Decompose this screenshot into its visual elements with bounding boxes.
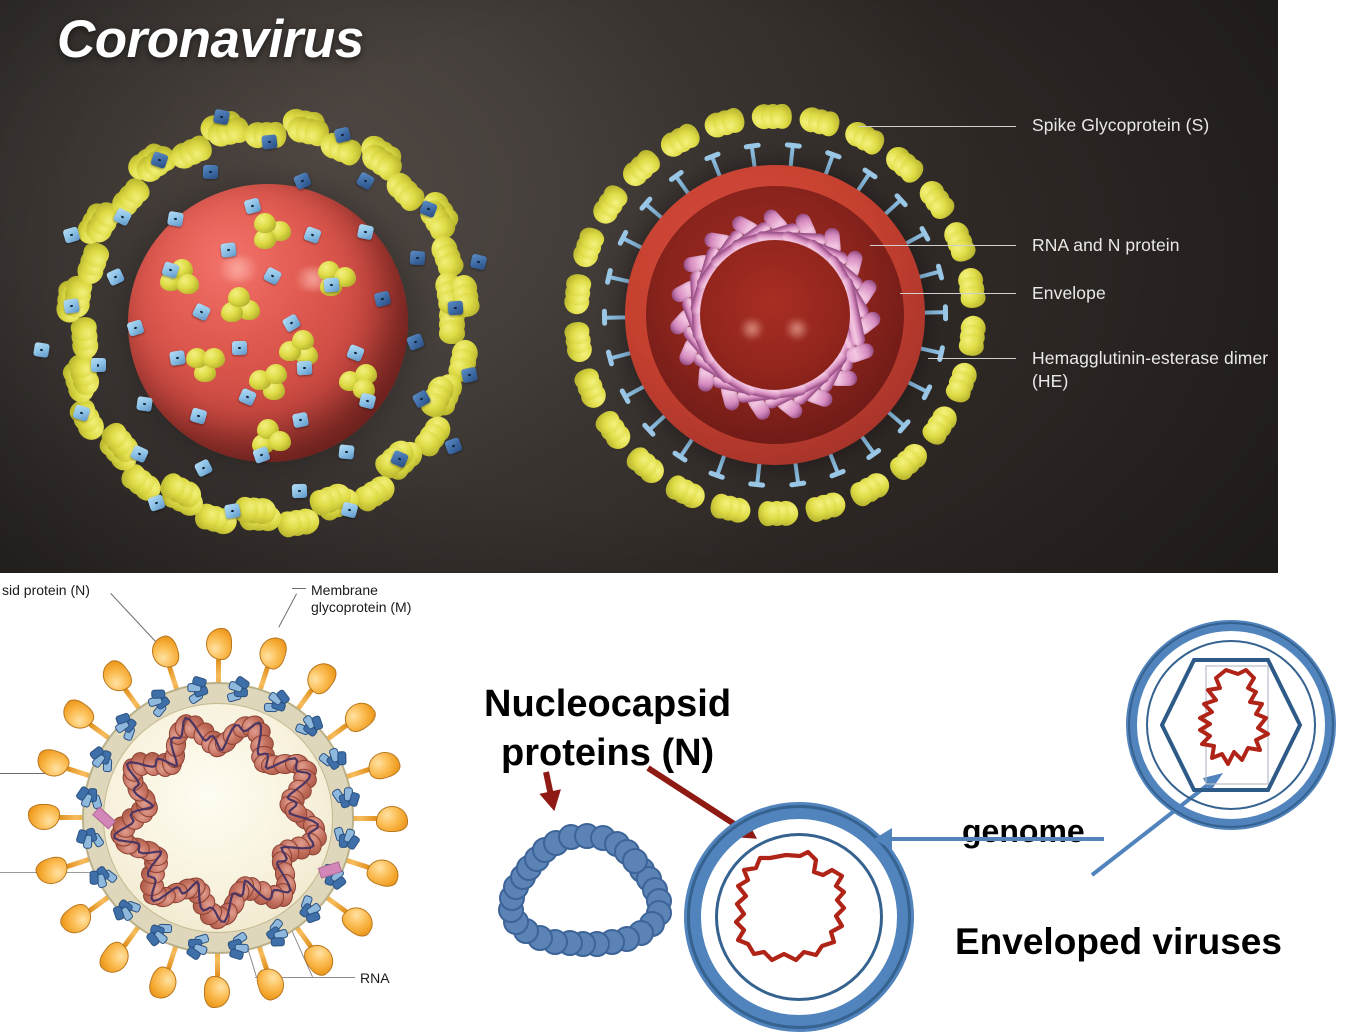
virus-particle-whole <box>18 88 518 558</box>
he-bar <box>790 480 808 487</box>
spike-head <box>228 287 250 307</box>
spike-front <box>180 340 226 382</box>
m-protein <box>406 332 425 350</box>
callout-label-he: Hemagglutinin-esterase dimer (HE) <box>1032 347 1277 393</box>
heading-nucleocapsid-line2: proteins (N) <box>501 732 714 775</box>
arrow-nucleocapsid-to-beads <box>546 772 553 807</box>
virus-b-core <box>700 240 850 390</box>
label-enveloped-viruses: Enveloped viruses <box>955 921 1282 963</box>
m-protein <box>447 301 463 316</box>
spike-head <box>770 104 792 129</box>
arrow-head <box>539 789 565 813</box>
m-protein <box>194 458 214 477</box>
enveloped-virion-right <box>1126 620 1336 830</box>
he-bar <box>748 481 765 488</box>
m-protein <box>220 242 237 258</box>
spike-front <box>335 358 381 400</box>
virus-particle-crosssection <box>540 80 1010 550</box>
m-protein <box>203 165 218 180</box>
arrow-genome-center-group <box>874 832 1104 846</box>
enveloped-virus-concept-panel: Nucleocapsid proteins (N) genome Envelop… <box>0 580 1368 1026</box>
he-stem <box>605 315 627 319</box>
m-protein <box>324 278 340 293</box>
spike-front <box>215 283 261 325</box>
he-bar <box>937 344 946 362</box>
he-bar <box>921 383 933 400</box>
core-speck <box>784 318 810 340</box>
spike-front <box>245 208 291 250</box>
m-protein <box>470 254 488 271</box>
he-stem <box>923 310 945 314</box>
m-protein <box>341 502 359 519</box>
m-protein <box>136 396 153 412</box>
genome-squiggle-right <box>1200 670 1268 764</box>
leader-line-he <box>928 358 1016 359</box>
genome-squiggle-center <box>724 842 876 994</box>
m-protein <box>167 211 184 227</box>
leader-line-spike <box>858 126 1016 127</box>
core-speck <box>739 318 765 340</box>
m-protein <box>261 134 277 149</box>
he-stem <box>788 146 794 168</box>
hexagonal-capsid <box>1162 660 1300 790</box>
m-protein <box>169 350 186 366</box>
spike-front <box>155 255 201 297</box>
callout-label-rna: RNA and N protein <box>1032 234 1180 257</box>
slide-canvas: Coronavirus <box>0 0 1368 1026</box>
arrow-head <box>874 828 892 850</box>
m-protein <box>460 366 478 383</box>
coronavirus-photo-panel: Coronavirus <box>0 0 1278 573</box>
m-protein <box>213 108 230 125</box>
spike-head <box>269 431 291 451</box>
m-protein <box>105 267 125 286</box>
spike-head <box>203 348 225 368</box>
m-protein <box>410 251 426 266</box>
page-title: Coronavirus <box>57 12 364 68</box>
he-bar <box>602 309 607 326</box>
spike-head <box>265 364 287 384</box>
m-protein <box>33 342 50 358</box>
m-protein <box>91 358 106 372</box>
m-protein <box>292 412 309 429</box>
m-protein <box>63 298 80 314</box>
surface-speck <box>212 256 264 282</box>
m-protein <box>224 503 241 519</box>
he-bar <box>829 468 847 479</box>
m-protein <box>355 172 375 192</box>
m-protein <box>147 494 166 512</box>
callout-label-spike: Spike Glycoprotein (S) <box>1032 114 1209 137</box>
he-stem <box>755 462 761 484</box>
leader-line-envelope <box>900 293 1016 294</box>
he-bar <box>943 304 948 321</box>
nucleocapsid-bead-chain <box>498 825 668 960</box>
callout-label-envelope: Envelope <box>1032 282 1106 305</box>
heading-nucleocapsid-line1: Nucleocapsid <box>484 683 731 726</box>
m-protein <box>292 484 307 499</box>
capsid-and-genome-right <box>1150 644 1312 806</box>
spike-head <box>292 330 314 350</box>
he-bar <box>935 263 944 281</box>
m-protein <box>297 360 313 375</box>
m-protein <box>444 437 463 455</box>
m-protein <box>339 444 355 459</box>
m-protein <box>232 341 247 355</box>
m-protein <box>357 224 375 241</box>
he-bar <box>784 142 801 149</box>
spike-head <box>254 213 276 233</box>
leader-line-rna <box>870 245 1016 246</box>
spike-head <box>177 274 199 294</box>
arrow-shaft <box>890 837 1104 841</box>
